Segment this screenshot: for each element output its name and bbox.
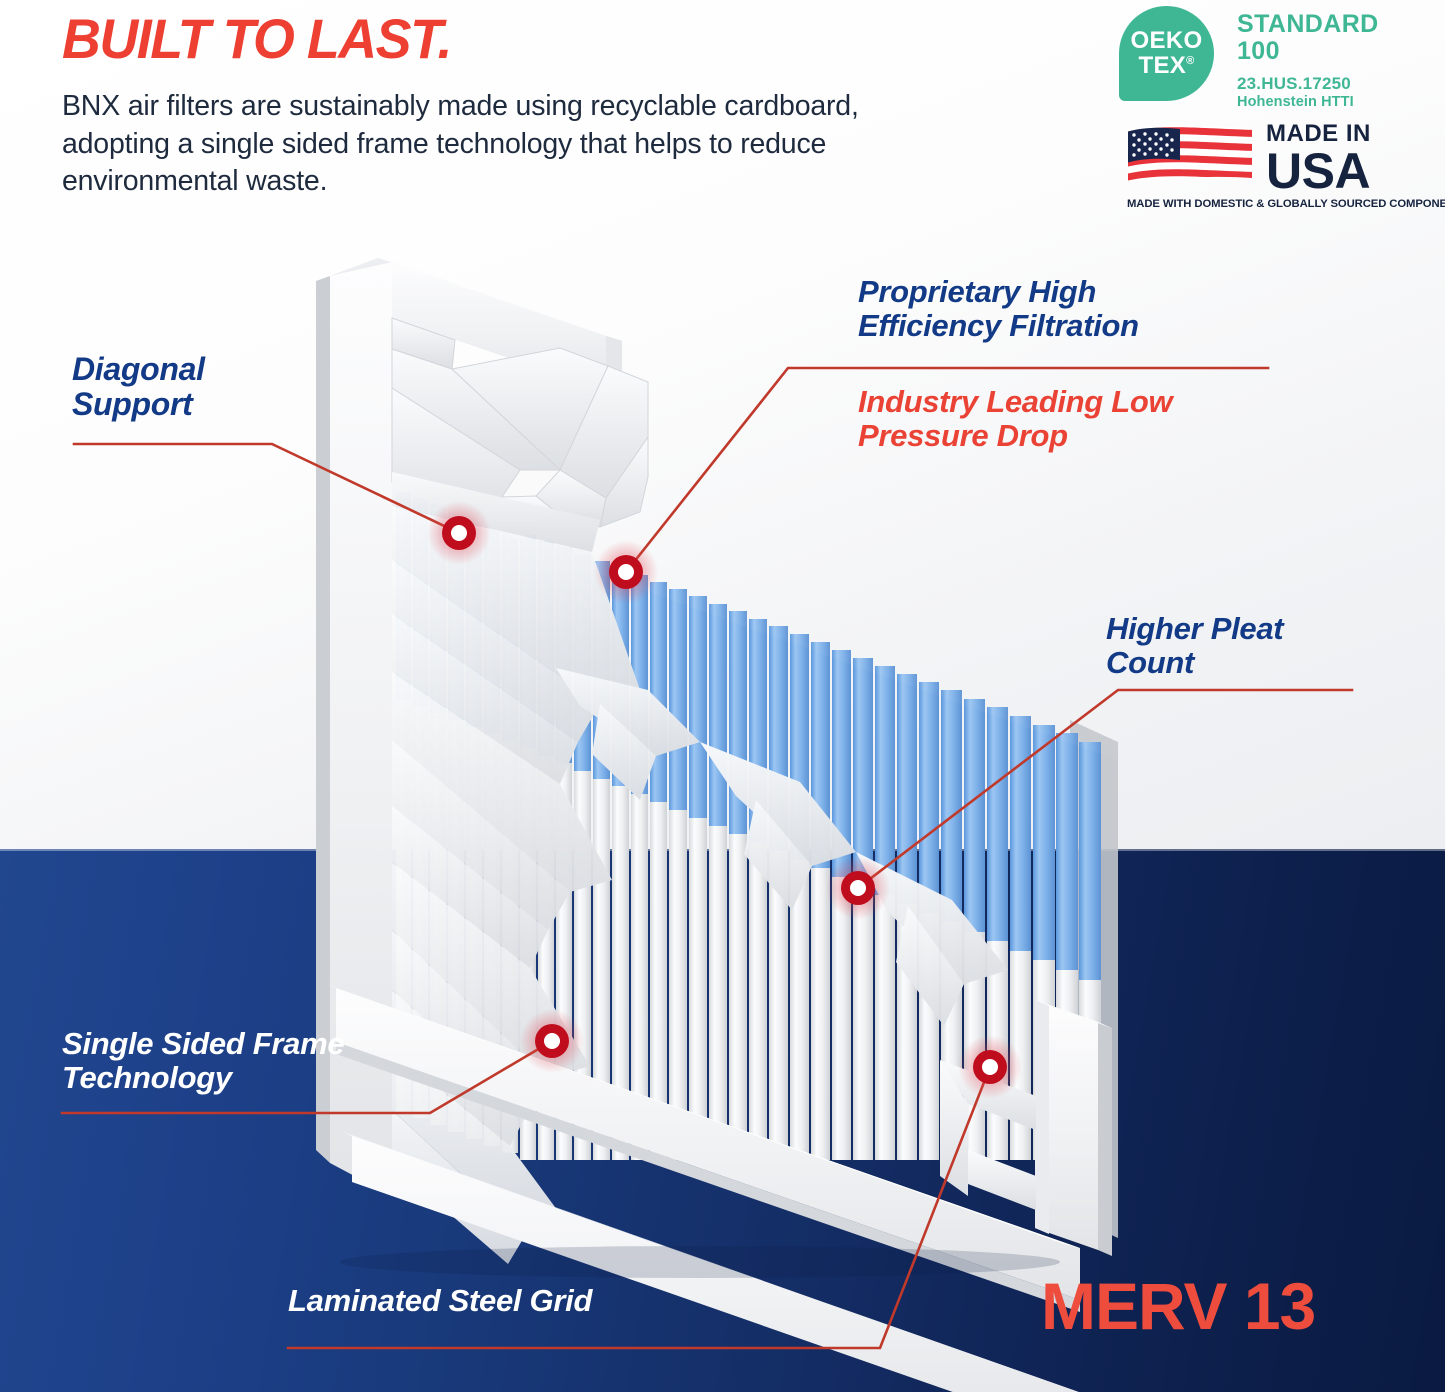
callout-proprietary-filtration: Proprietary High Efficiency Filtration: [858, 275, 1139, 343]
headline: BUILT TO LAST.: [62, 6, 451, 71]
made-in-usa-wordmark: MADE IN USA: [1266, 122, 1371, 195]
callout-diagonal-support: Diagonal Support: [72, 352, 205, 422]
certifying-institute: Hohenstein HTTI: [1237, 94, 1379, 110]
infographic-canvas: BUILT TO LAST. BNX air filters are susta…: [0, 0, 1445, 1392]
callout-higher-pleat-count: Higher Pleat Count: [1106, 612, 1283, 680]
leader-diagonal-support: [74, 444, 459, 533]
oeko-tex-wordmark: OEKO TEX®: [1119, 6, 1214, 101]
marker-single-sided-frame[interactable]: [520, 1009, 584, 1073]
marker-proprietary-filtration[interactable]: [594, 540, 658, 604]
callout-low-pressure-drop: Industry Leading Low Pressure Drop: [858, 385, 1172, 453]
made-in-usa-badge: MADE IN USA MADE WITH DOMESTIC & GLOBALL…: [1126, 124, 1441, 220]
certificate-number: 23.HUS.17250: [1237, 74, 1379, 94]
leader-higher-pleat-count: [858, 690, 1352, 888]
merv-rating-label: MERV 13: [1041, 1268, 1315, 1344]
usa-label: USA: [1266, 147, 1371, 195]
oeko-tex-badge: OEKO TEX® STANDARD 100 23.HUS.17250 Hohe…: [1119, 6, 1439, 116]
usa-flag-icon: [1126, 124, 1254, 186]
oeko-tex-line1: OEKO: [1131, 29, 1203, 53]
marker-diagonal-support[interactable]: [427, 501, 491, 565]
callout-single-sided-frame: Single Sided Frame Technology: [62, 1027, 344, 1095]
oeko-tex-line2: TEX®: [1139, 54, 1195, 78]
marker-higher-pleat-count[interactable]: [826, 856, 890, 920]
sourcing-disclaimer: MADE WITH DOMESTIC & GLOBALLY SOURCED CO…: [1127, 198, 1439, 210]
body-copy: BNX air filters are sustainably made usi…: [62, 88, 892, 201]
standard-label: STANDARD: [1237, 11, 1379, 38]
callout-markers: [427, 501, 1022, 1099]
oeko-tex-standard-info: STANDARD 100 23.HUS.17250 Hohenstein HTT…: [1237, 11, 1379, 110]
standard-number: 100: [1237, 38, 1379, 65]
registered-mark-icon: ®: [1186, 55, 1194, 67]
callout-laminated-steel-grid: Laminated Steel Grid: [288, 1284, 592, 1318]
marker-laminated-steel-grid[interactable]: [958, 1035, 1022, 1099]
